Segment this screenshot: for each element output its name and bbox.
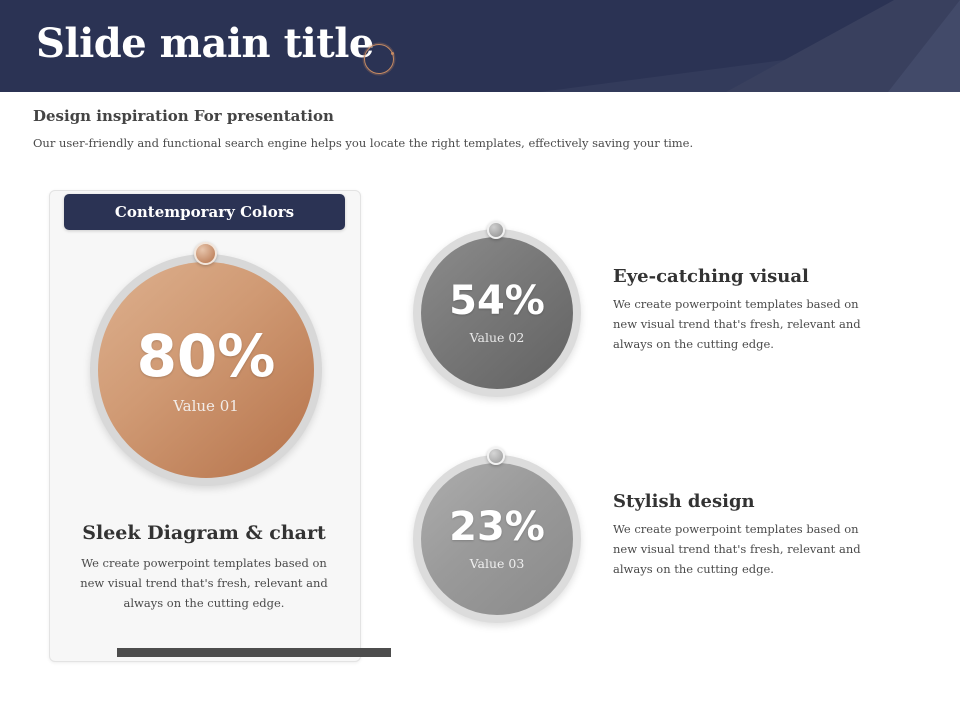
progress-label-03: Value 03 [470,558,525,571]
feature-block-2: Stylish design We create powerpoint temp… [613,491,869,579]
progress-value-02: 54% [449,281,545,321]
progress-circle-value-02: 54% Value 02 [408,224,586,402]
feature-block-2-body: We create powerpoint templates based on … [613,519,869,579]
circle-outline-icon [364,44,394,74]
progress-circle-value-01: 80% Value 01 [82,246,330,494]
feature-block-1: Eye-catching visual We create powerpoint… [613,266,869,354]
progress-label-01: Value 01 [173,399,239,414]
progress-knob-01 [194,242,217,265]
card-caption-title: Sleek Diagram & chart [49,522,359,544]
progress-value-03: 23% [449,507,545,547]
progress-value-01: 80% [137,327,276,385]
card-caption-body: We create powerpoint templates based on … [79,554,329,613]
progress-circle-value-03: 23% Value 03 [408,450,586,628]
slide-canvas: Slide main title Design inspiration For … [0,0,960,720]
progress-knob-03 [487,447,505,465]
progress-label-02: Value 02 [470,332,525,345]
progress-disc-02: 54% Value 02 [421,237,573,389]
section-heading: Design inspiration For presentation [33,107,334,125]
feature-block-1-title: Eye-catching visual [613,266,869,287]
card-bottom-bar [117,648,391,657]
card-badge-label: Contemporary Colors [115,203,294,221]
progress-knob-02 [487,221,505,239]
feature-block-1-body: We create powerpoint templates based on … [613,294,869,354]
feature-block-2-title: Stylish design [613,491,869,512]
page-title: Slide main title [36,20,374,67]
card-badge: Contemporary Colors [64,194,345,230]
progress-disc-01: 80% Value 01 [98,262,314,478]
section-description: Our user-friendly and functional search … [33,136,693,150]
progress-disc-03: 23% Value 03 [421,463,573,615]
